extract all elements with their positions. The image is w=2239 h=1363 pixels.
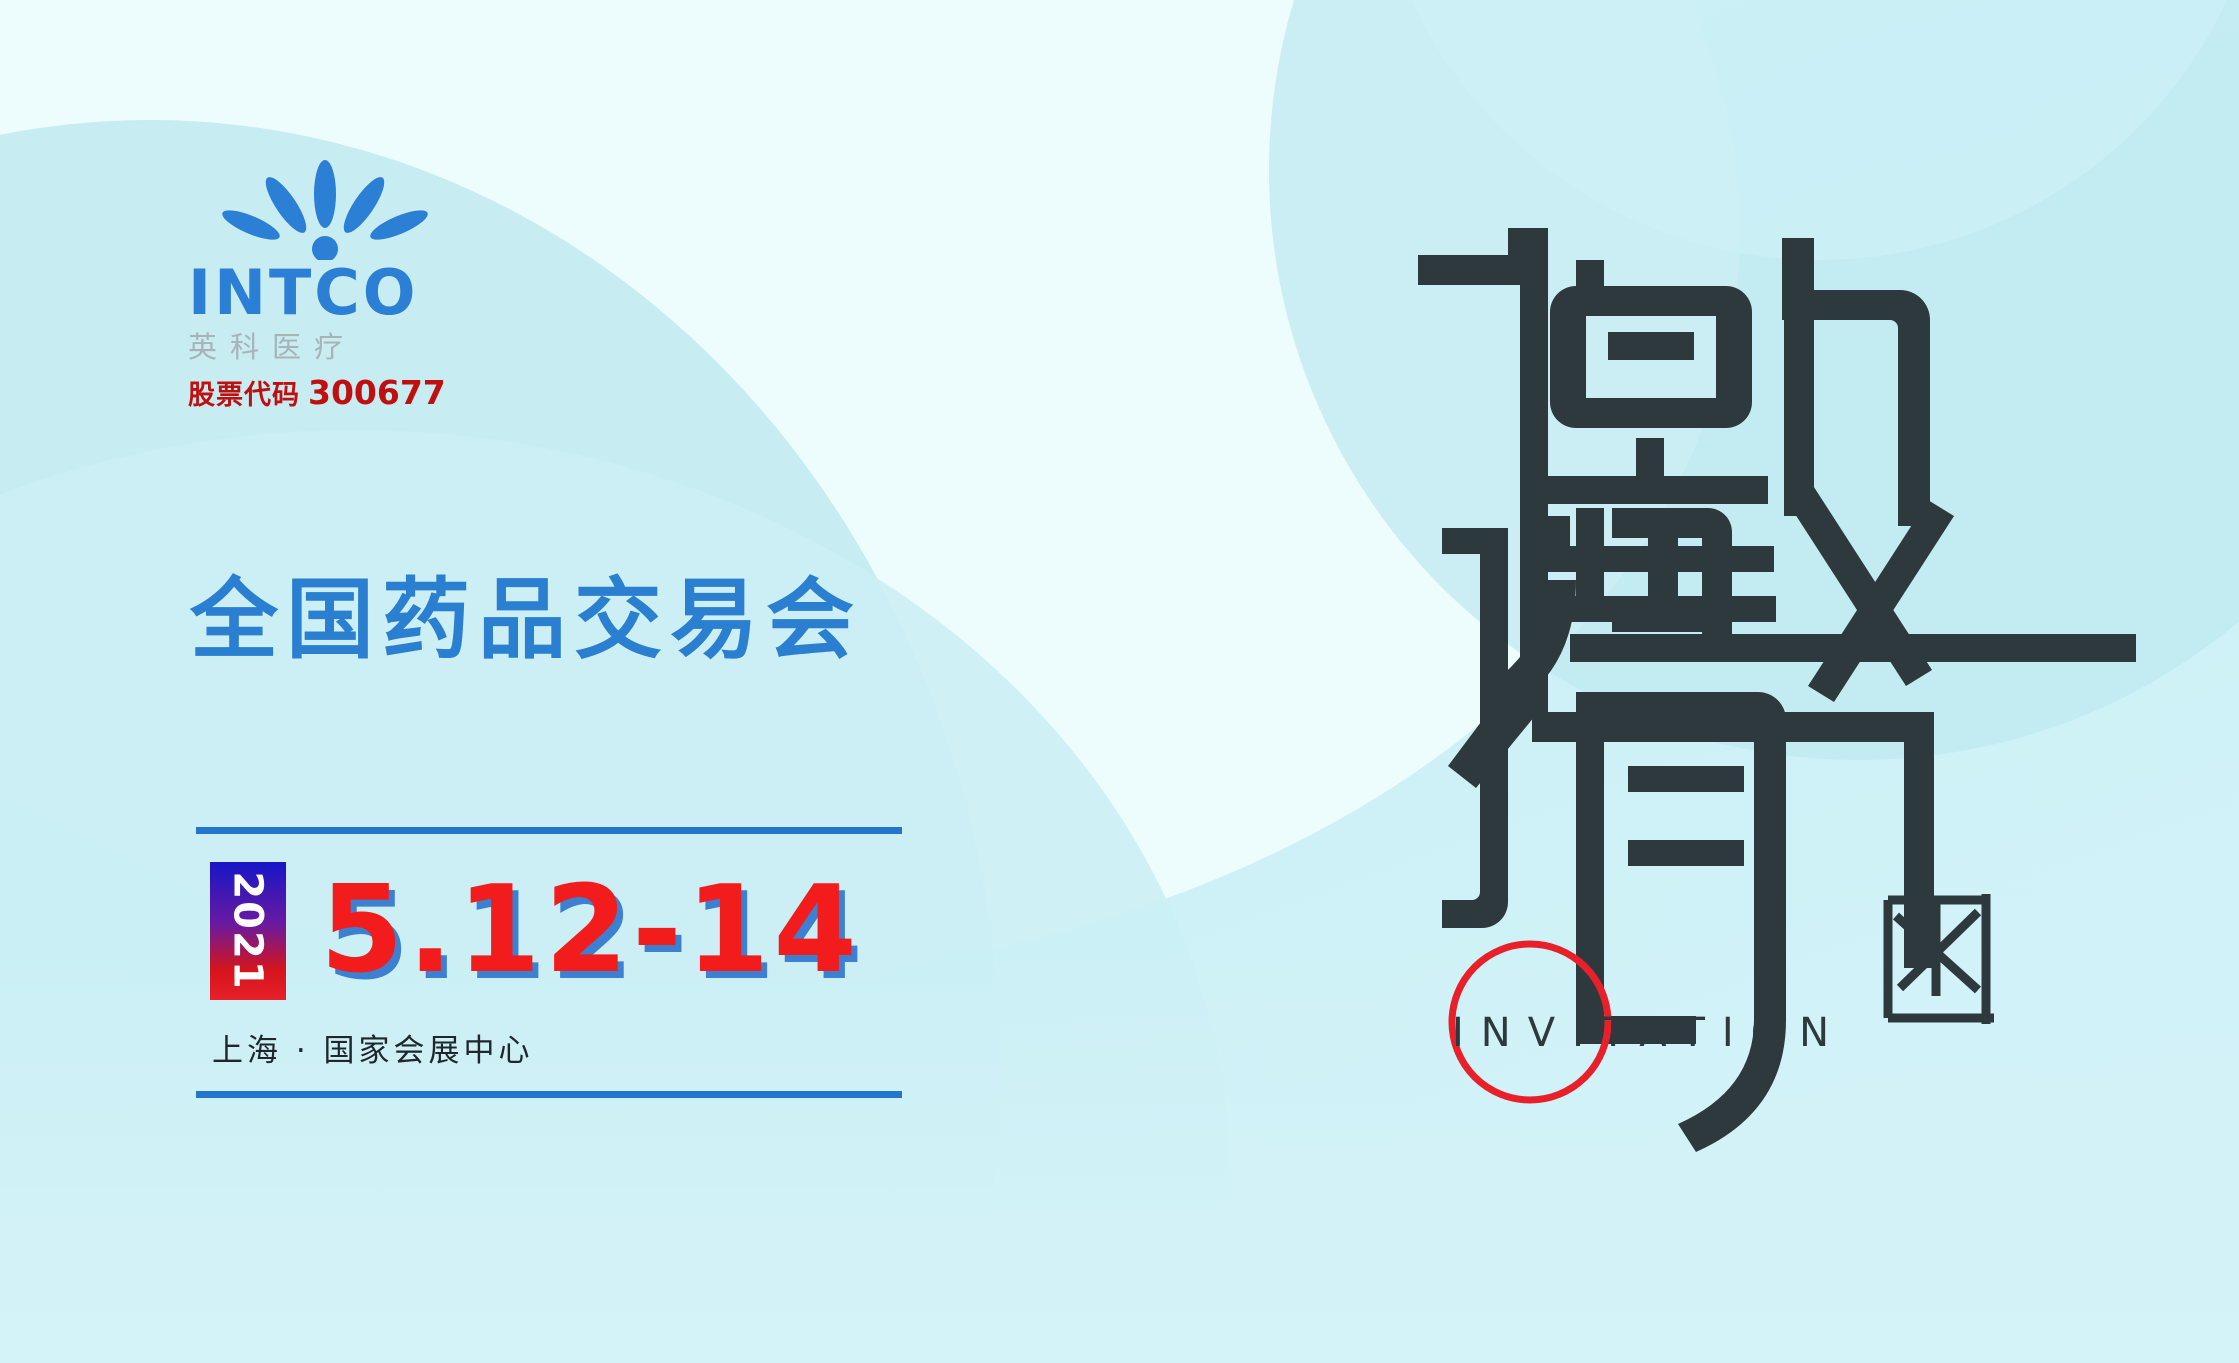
invitation-english-word: INVITATION bbox=[1452, 1010, 1846, 1056]
year-badge-label: 2021 bbox=[225, 871, 271, 990]
divider-top bbox=[196, 827, 902, 834]
brand-chinese-name: 英科医疗 bbox=[188, 333, 458, 362]
left-content-column: INTCO 英科医疗 股票代码300677 全国药品交易会 2021 5.12-… bbox=[0, 0, 1100, 1363]
invitation-card: INTCO 英科医疗 股票代码300677 全国药品交易会 2021 5.12-… bbox=[0, 0, 2239, 1363]
event-date-row: 2021 5.12-14 bbox=[210, 862, 861, 1000]
stock-code-line: 股票代码300677 bbox=[188, 376, 458, 409]
year-badge: 2021 bbox=[210, 862, 286, 1000]
stock-code-value: 300677 bbox=[308, 373, 446, 412]
event-title: 全国药品交易会 bbox=[190, 572, 862, 669]
divider-bottom bbox=[196, 1091, 902, 1098]
starburst-icon bbox=[188, 160, 458, 260]
stock-code-label: 股票代码 bbox=[188, 380, 300, 411]
event-venue: 上海 · 国家会展中心 bbox=[212, 1025, 534, 1070]
brand-wordmark: INTCO bbox=[188, 262, 458, 324]
brand-logo: INTCO 英科医疗 股票代码300677 bbox=[188, 160, 458, 409]
event-date-range: 5.12-14 bbox=[320, 871, 861, 991]
invitation-artwork: INVITATION bbox=[1380, 200, 2220, 1160]
